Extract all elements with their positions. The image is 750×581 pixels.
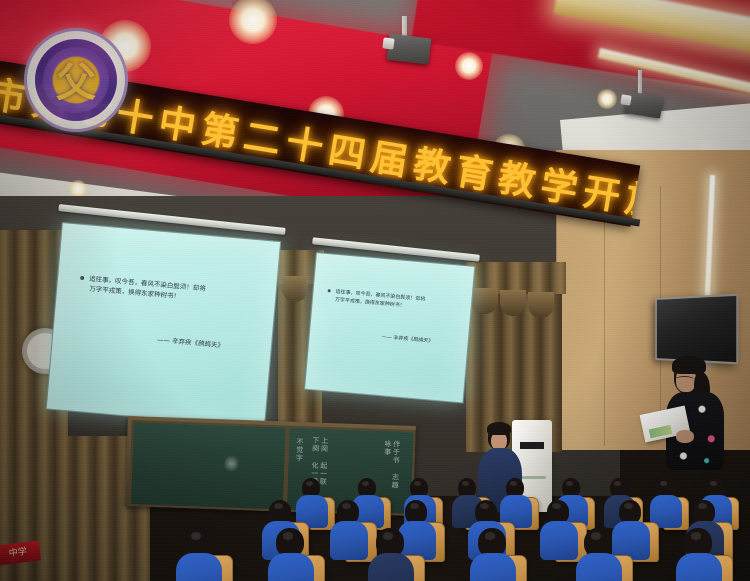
chalk-column-3: 作于书 志趣 咏事 <box>382 440 401 493</box>
student-hair-highlight <box>283 532 294 539</box>
valance-swag-4 <box>528 292 554 318</box>
student-torso <box>268 553 314 581</box>
student-hair-highlight <box>383 532 394 539</box>
student-torso <box>176 553 222 581</box>
blackboard-panel-left <box>129 420 288 511</box>
man-hair <box>487 422 511 435</box>
student-torso <box>576 553 622 581</box>
student-hair-highlight <box>591 532 602 539</box>
projection-screen-right: 追往事，叹今吾，春风不染白髭须！却将 万字平戎策，换得东家种树书！ —— 辛弃疾… <box>304 252 475 403</box>
woman-hand <box>676 430 694 443</box>
chalk-smudge <box>221 452 241 476</box>
ac-vent <box>520 442 544 449</box>
slide-bullet-left <box>80 276 84 280</box>
student-hair-highlight <box>485 532 496 539</box>
slide-text-left: 追往事，叹今吾，春风不染白髭须！却将 万字平戎策，换得东家种树书！ <box>79 273 260 309</box>
valance-swag-3 <box>500 290 526 316</box>
student-hair-highlight <box>191 532 202 539</box>
student-torso <box>540 521 578 561</box>
student-torso <box>330 521 368 561</box>
slide-attribution-left: —— 辛弃疾《鹧鸪天》 <box>157 334 225 350</box>
school-emblem: 父 <box>24 28 128 132</box>
student-hair-highlight <box>691 532 702 539</box>
student-torso <box>676 553 722 581</box>
slide-text-right: 追往事，叹今吾，春风不染白髭须！却将 万字平戎策，换得东家种树书！ <box>327 288 464 315</box>
slide-bullet-right <box>328 289 331 292</box>
valance-swag-2 <box>472 288 498 314</box>
slide-attribution-right: —— 辛弃疾《鹧鸪天》 <box>382 333 434 344</box>
wall-mounted-tv <box>655 294 738 365</box>
paper-image <box>649 425 672 438</box>
valance-swag-1 <box>282 276 308 302</box>
auditorium-photo: 合肥市第七十中第二十四届教育教学开放周 父 追往事，叹今吾，春风不染白髭须！却将… <box>0 0 750 581</box>
student-torso <box>612 521 650 561</box>
wall-panel-seam-1 <box>604 196 605 446</box>
ac-grill <box>518 476 546 479</box>
student-torso <box>368 553 414 581</box>
student-torso <box>470 553 516 581</box>
glasses-icon <box>675 376 694 383</box>
projection-screen-left: 追往事，叹今吾，春风不染白髭须！却将 万字平戎策，换得东家种树书！ —— 辛弃疾… <box>46 222 282 428</box>
emblem-border <box>24 28 128 132</box>
